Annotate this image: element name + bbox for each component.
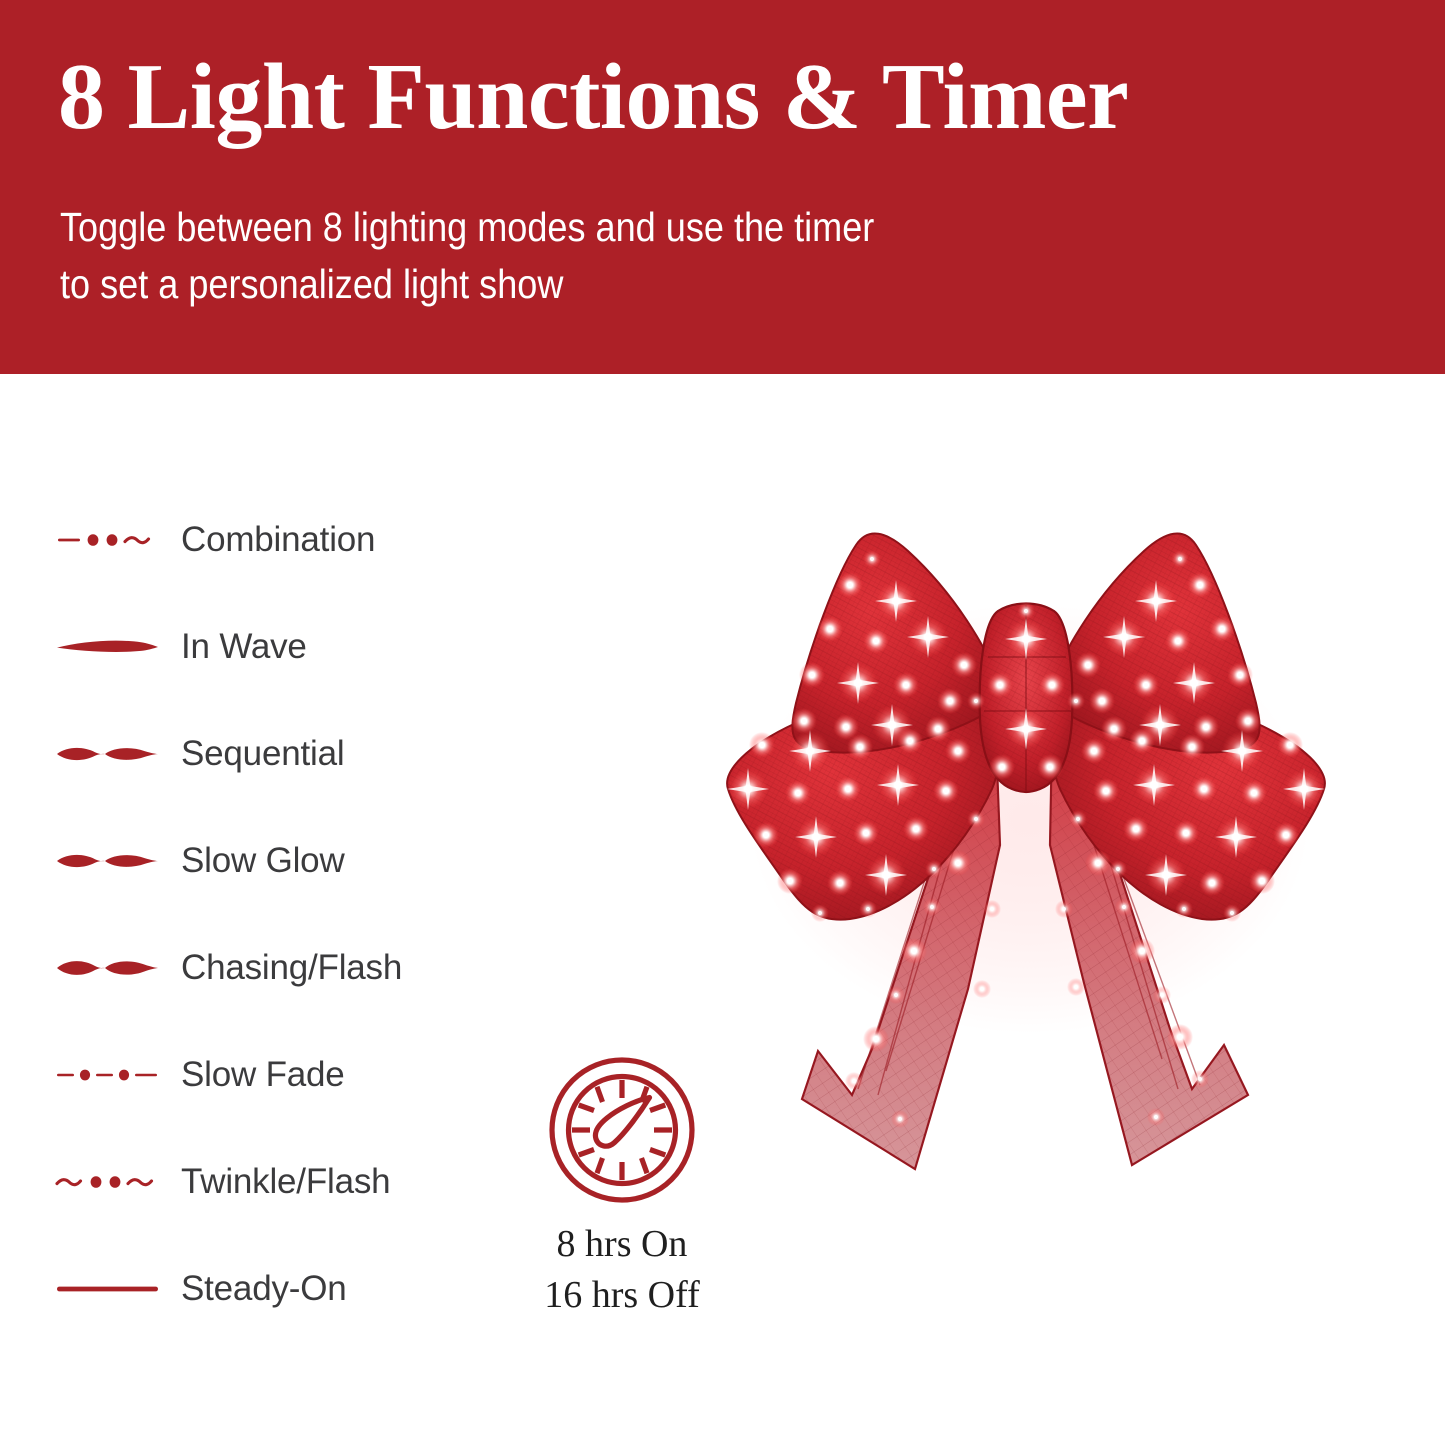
list-item: Steady-On (55, 1235, 525, 1342)
list-item: Twinkle/Flash (55, 1128, 525, 1235)
product-image-lighted-bow (700, 489, 1360, 1279)
lighted-red-glitter-bow-illustration (700, 489, 1360, 1279)
single-lens-wave-icon (55, 627, 160, 667)
dash-dot-dash-dot-dash-icon (55, 1055, 160, 1095)
double-lens-wave-icon (55, 841, 160, 881)
page-title: 8 Light Functions & Timer (58, 50, 1128, 146)
list-item-label: Twinkle/Flash (160, 1162, 390, 1202)
solid-line-icon (55, 1269, 160, 1309)
list-item-label: Sequential (160, 734, 344, 774)
list-item: In Wave (55, 593, 525, 700)
list-item-label: Slow Fade (160, 1055, 345, 1095)
list-item: Sequential (55, 700, 525, 807)
page-subtitle: Toggle between 8 lighting modes and use … (60, 199, 874, 312)
light-functions-legend: Combination In Wave Sequential Slow Glow (55, 486, 525, 1342)
list-item: Combination (55, 486, 525, 593)
list-item-label: Slow Glow (160, 841, 345, 881)
content-stage: Combination In Wave Sequential Slow Glow (0, 374, 1445, 1445)
list-item-label: Steady-On (160, 1269, 347, 1309)
list-item: Chasing/Flash (55, 914, 525, 1021)
wave-dot-dot-wave-icon (55, 1162, 160, 1202)
list-item-label: In Wave (160, 627, 307, 667)
list-item-label: Combination (160, 520, 375, 560)
dash-dot-dot-wave-icon (55, 520, 160, 560)
list-item: Slow Fade (55, 1021, 525, 1128)
double-lens-wave-icon (55, 734, 160, 774)
list-item: Slow Glow (55, 807, 525, 914)
double-lens-thick-wave-icon (55, 948, 160, 988)
timer-gauge-icon (546, 1054, 698, 1206)
header-banner: 8 Light Functions & Timer Toggle between… (0, 0, 1445, 374)
list-item-label: Chasing/Flash (160, 948, 402, 988)
